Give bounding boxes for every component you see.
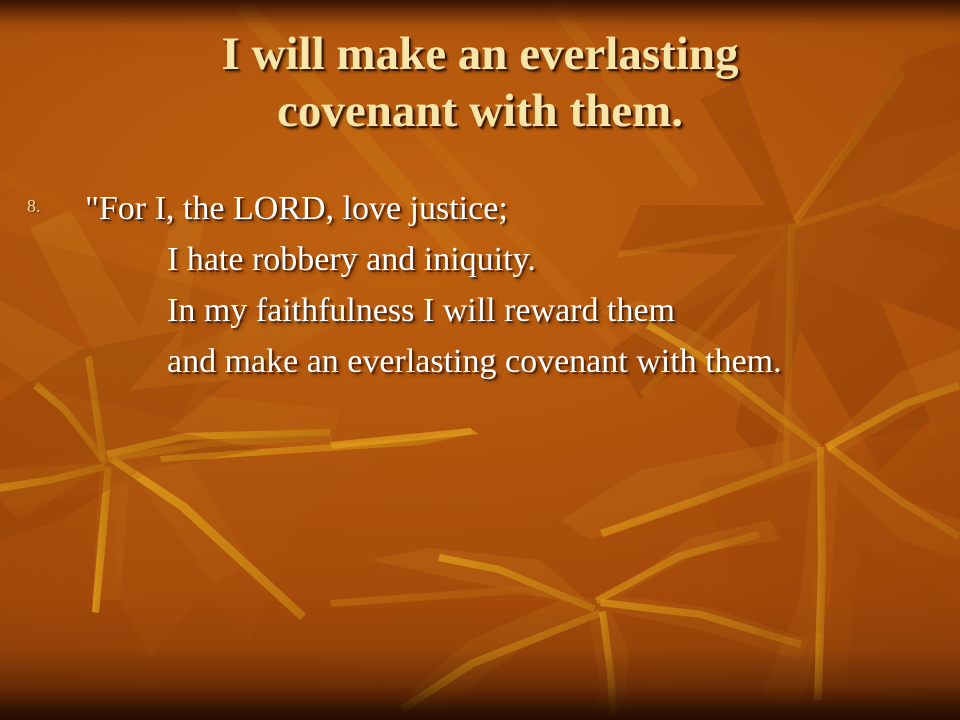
quote-line-2: I hate robbery and iniquity.	[0, 234, 960, 285]
slide-title-line-2: covenant with them.	[70, 83, 890, 140]
quote-line-1: "For I, the LORD, love justice;	[0, 183, 960, 234]
quote-line-4: and make an everlasting covenant with th…	[0, 336, 960, 387]
quote-line-3: In my faithfulness I will reward them	[0, 285, 960, 336]
slide-content: 8. "For I, the LORD, love justice; I hat…	[0, 183, 960, 387]
list-marker-number: 8.	[27, 197, 41, 215]
numbered-list-item: 8. "For I, the LORD, love justice; I hat…	[0, 183, 960, 387]
scripture-quote: "For I, the LORD, love justice; I hate r…	[0, 183, 960, 387]
slide-canvas: I will make an everlasting covenant with…	[0, 0, 960, 720]
slide-title-line-1: I will make an everlasting	[70, 26, 890, 83]
slide-title: I will make an everlasting covenant with…	[70, 26, 890, 140]
